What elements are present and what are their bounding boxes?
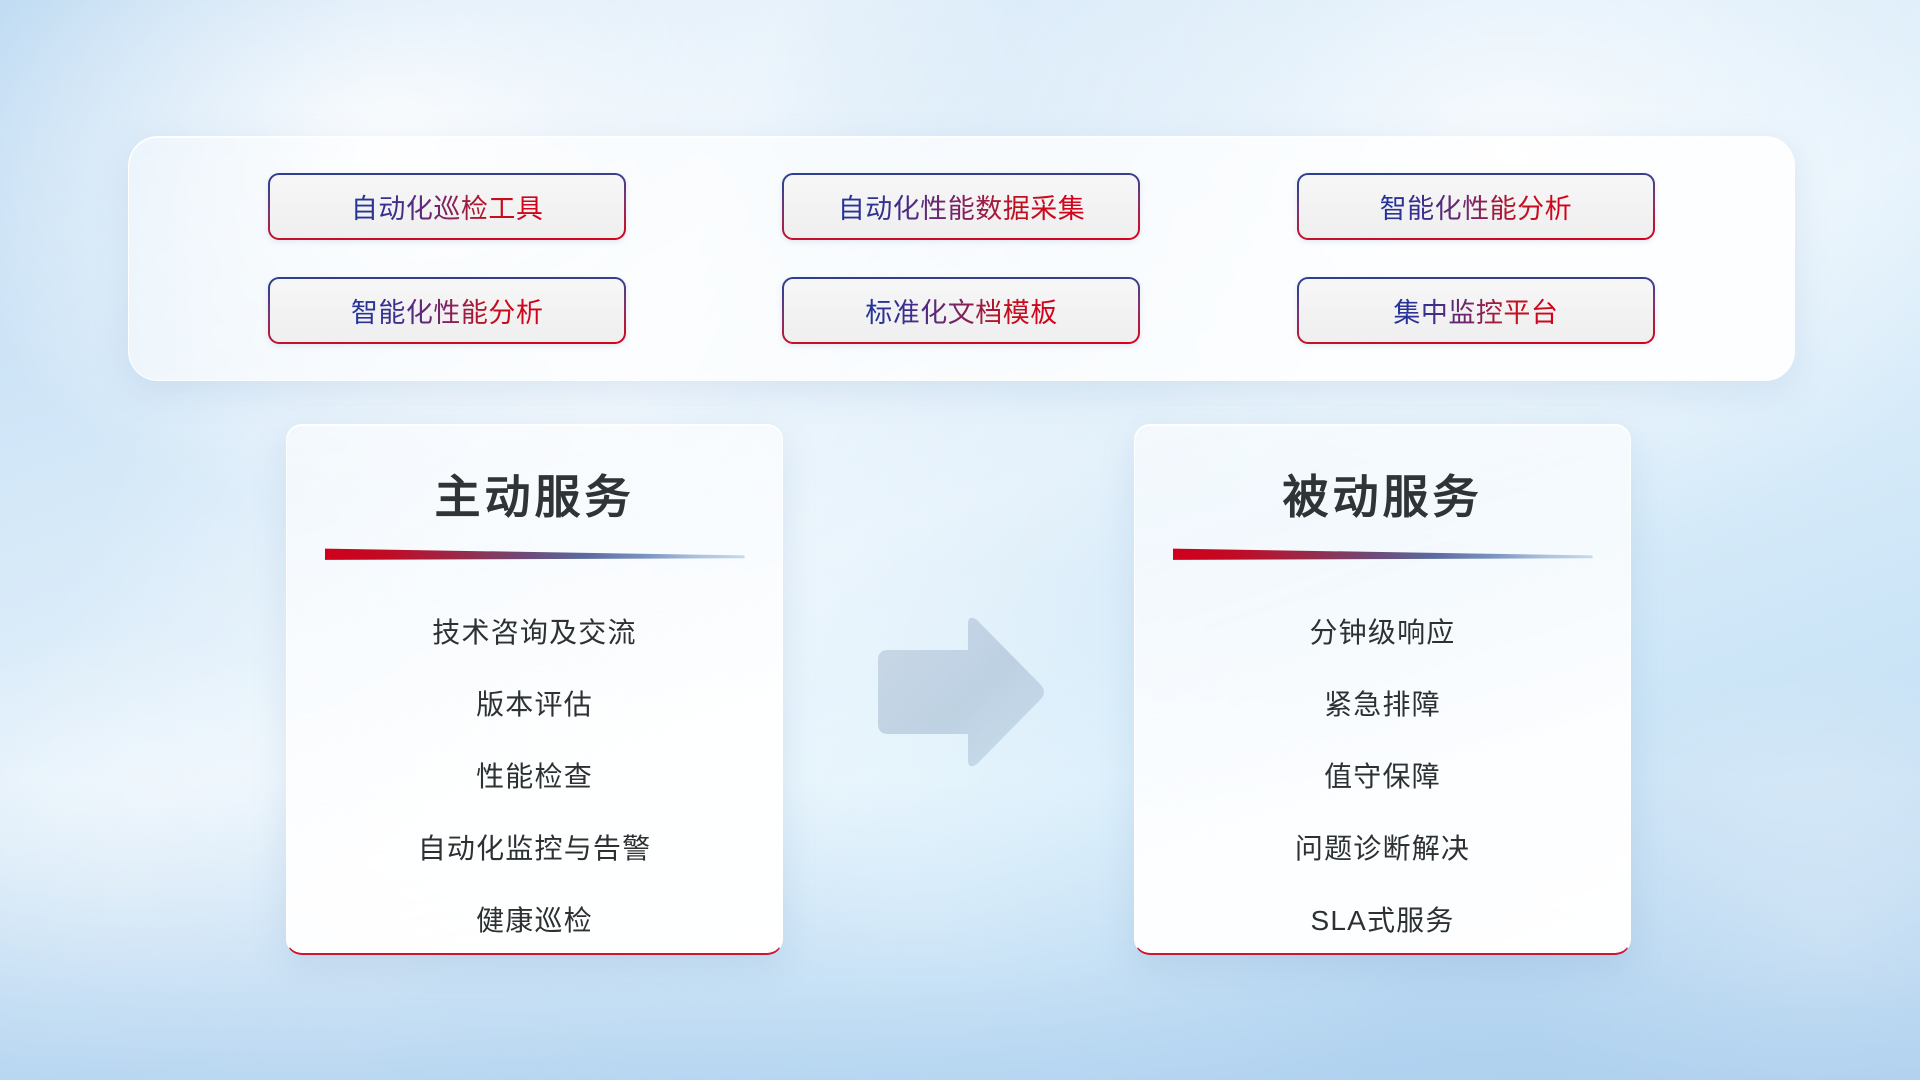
capability-pill-2-label: 自动化性能数据采集 (838, 187, 1086, 226)
capability-panel: 自动化巡检工具 自动化性能数据采集 智能化性能分析 智能化性能分析 标准化文档模… (128, 136, 1795, 381)
capability-pill-4[interactable]: 智能化性能分析 (268, 277, 626, 344)
capability-pill-6-label: 集中监控平台 (1393, 291, 1558, 330)
capability-pill-5-surface: 标准化文档模板 (784, 279, 1138, 342)
service-card-active-list: 技术咨询及交流 版本评估 性能检查 自动化监控与告警 健康巡检 (287, 597, 782, 955)
arrow-right-icon (872, 612, 1048, 772)
capability-pill-2-surface: 自动化性能数据采集 (784, 175, 1138, 238)
service-card-passive[interactable]: 被动服务 分钟级响应 紧急排障 值守保障 问题诊断解决 SLA式服务 (1134, 424, 1631, 955)
service-card-active-divider (325, 547, 745, 561)
capability-pill-2[interactable]: 自动化性能数据采集 (782, 173, 1140, 240)
list-item: 自动化监控与告警 (418, 813, 652, 885)
service-card-passive-list: 分钟级响应 紧急排障 值守保障 问题诊断解决 SLA式服务 (1135, 597, 1630, 955)
capability-pill-5[interactable]: 标准化文档模板 (782, 277, 1140, 344)
capability-pill-3-surface: 智能化性能分析 (1299, 175, 1653, 238)
list-item: 分钟级响应 (1309, 597, 1455, 669)
list-item: 版本评估 (476, 669, 593, 741)
divider-wedge (1173, 547, 1593, 561)
service-card-active-title: 主动服务 (287, 461, 782, 527)
capability-pill-1[interactable]: 自动化巡检工具 (268, 173, 626, 240)
divider-wedge (325, 547, 745, 561)
service-card-passive-title: 被动服务 (1135, 461, 1630, 527)
capability-pill-3-label: 智能化性能分析 (1380, 187, 1573, 226)
list-item: 技术咨询及交流 (432, 597, 636, 669)
capability-pill-3[interactable]: 智能化性能分析 (1297, 173, 1655, 240)
capability-pill-5-label: 标准化文档模板 (865, 291, 1058, 330)
service-card-passive-divider (1173, 547, 1593, 561)
list-item: 问题诊断解决 (1295, 813, 1470, 885)
list-item: 健康巡检 (476, 885, 593, 955)
capability-pill-grid: 自动化巡检工具 自动化性能数据采集 智能化性能分析 智能化性能分析 标准化文档模… (129, 137, 1794, 380)
capability-pill-4-label: 智能化性能分析 (351, 291, 544, 330)
capability-pill-1-label: 自动化巡检工具 (351, 187, 544, 226)
capability-pill-6[interactable]: 集中监控平台 (1297, 277, 1655, 344)
list-item: 值守保障 (1324, 741, 1441, 813)
list-item: 性能检查 (476, 741, 593, 813)
capability-pill-1-surface: 自动化巡检工具 (270, 175, 624, 238)
list-item: SLA式服务 (1310, 885, 1454, 955)
list-item: 紧急排障 (1324, 669, 1441, 741)
capability-pill-4-surface: 智能化性能分析 (270, 279, 624, 342)
capability-pill-6-surface: 集中监控平台 (1299, 279, 1653, 342)
service-card-active[interactable]: 主动服务 技术咨询及交流 版本评估 性能检查 自动化监控与告警 健康巡检 (286, 424, 783, 955)
